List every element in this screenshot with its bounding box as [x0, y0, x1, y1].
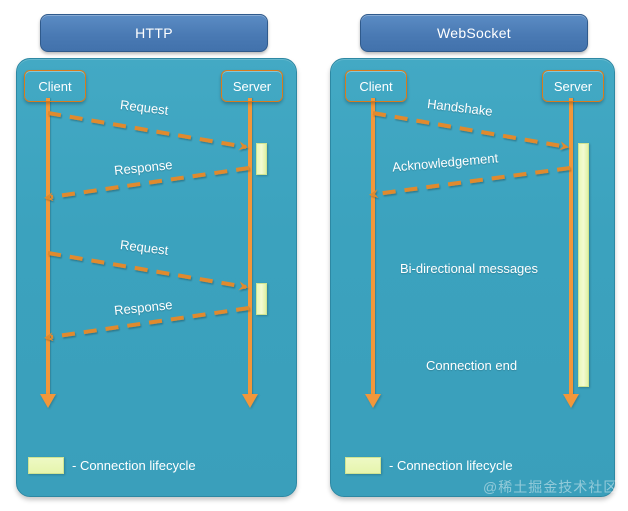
- ws-client-lifeline-arrow-icon: [365, 394, 381, 408]
- http-header-label: HTTP: [135, 25, 173, 41]
- http-actor-client-label: Client: [38, 79, 71, 94]
- ws-legend-swatch-icon: [345, 457, 381, 474]
- watermark: @稀土掘金技术社区: [483, 477, 618, 497]
- ws-actor-server: Server: [542, 70, 604, 102]
- diagram-canvas: HTTP WebSocket Client Server Client Serv…: [0, 0, 628, 511]
- ws-server-lifeline-arrow-icon: [563, 394, 579, 408]
- http-actor-client: Client: [24, 70, 86, 102]
- http-server-lifeline: [248, 98, 252, 396]
- http-panel: [16, 58, 297, 497]
- websocket-header-pill: WebSocket: [360, 14, 588, 52]
- ws-client-lifeline: [371, 98, 375, 396]
- http-actor-server-label: Server: [233, 79, 271, 94]
- websocket-legend: - Connection lifecycle: [345, 457, 513, 474]
- ws-message-label-bidirectional: Bi-directional messages: [400, 261, 538, 276]
- http-legend-label: - Connection lifecycle: [72, 458, 196, 473]
- http-legend-swatch-icon: [28, 457, 64, 474]
- http-client-lifeline-arrow-icon: [40, 394, 56, 408]
- ws-lifecycle-bar-1: [578, 143, 589, 387]
- ws-actor-server-label: Server: [554, 79, 592, 94]
- http-legend: - Connection lifecycle: [28, 457, 196, 474]
- http-lifecycle-bar-2: [256, 283, 267, 315]
- http-server-lifeline-arrow-icon: [242, 394, 258, 408]
- http-lifecycle-bar-1: [256, 143, 267, 175]
- ws-actor-client: Client: [345, 70, 407, 102]
- ws-actor-client-label: Client: [359, 79, 392, 94]
- ws-server-lifeline: [569, 98, 573, 396]
- websocket-header-label: WebSocket: [437, 25, 511, 41]
- http-client-lifeline: [46, 98, 50, 396]
- http-actor-server: Server: [221, 70, 283, 102]
- ws-legend-label: - Connection lifecycle: [389, 458, 513, 473]
- ws-message-label-connection-end: Connection end: [426, 358, 517, 373]
- http-header-pill: HTTP: [40, 14, 268, 52]
